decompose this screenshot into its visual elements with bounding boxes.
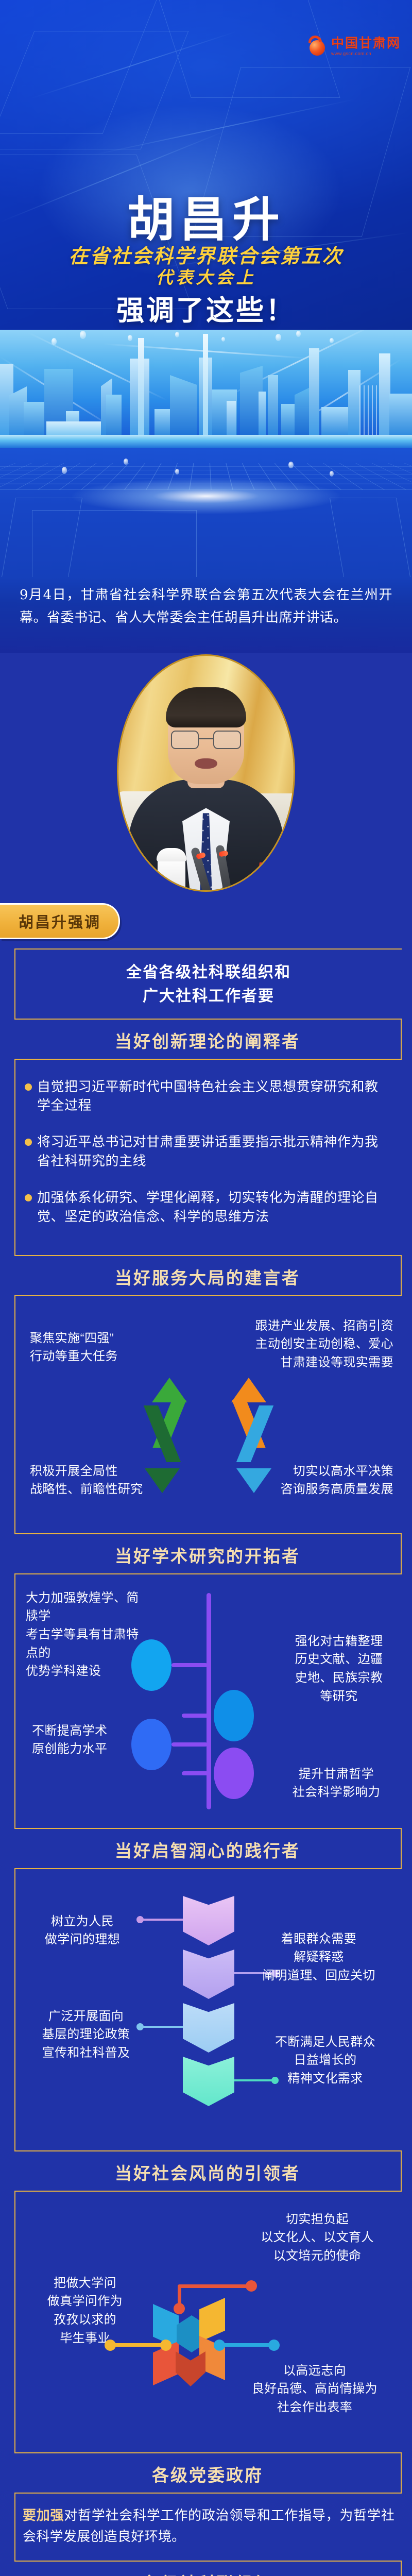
section-3-caption-1: 大力加强敦煌学、简牍学 考古学等具有甘肃特点的 优势学科建设 (26, 1589, 144, 1681)
section-2-body: 聚焦实施“四强” 行动等重大任务 跟进产业发展、招商引资 主动创安主动创稳、爱心… (14, 1295, 402, 1534)
hero-subtitle-line-2: 代表大会上 (0, 264, 412, 289)
section-1-body: 自觉把习近平新时代中国特色社会主义思想贯穿研究和教学全过程 将习近平总书记对甘肃… (14, 1059, 402, 1256)
section-2-title: 当好服务大局的建言者 (14, 1256, 401, 1295)
section-1-bullet-1: 自觉把习近平新时代中国特色社会主义思想贯穿研究和教学全过程 (37, 1077, 391, 1115)
section-5-caption-3: 以高远志向 良好品德、高尚情操为 社会作出表率 (235, 2362, 394, 2417)
list-item: 加强体系化研究、学理化阐释，切实转化为清醒的理论自觉、坚定的政治信念、科学的思维… (25, 1188, 391, 1226)
closing-1-text: 对哲学社会科学工作的政治领导和工作指导，为哲学社会科学发展创造良好环境。 (23, 2507, 394, 2544)
section-3-title-box: 当好学术研究的开拓者 (14, 1534, 402, 1573)
hero-banner: 中国甘肃网 www.gscn.com.cn 胡昌升 在省社会科学界联合会第五次 … (0, 0, 412, 330)
lead-in-box: 全省各级社科联组织和 广大社科工作者要 (14, 948, 402, 1019)
site-name: 中国甘肃网 (331, 37, 401, 50)
section-4-body: 树立为人民 做学问的理想 着眼群众需要 解疑释惑 阐明道理、回应关切 广泛开展面… (14, 1868, 402, 2151)
bullet-dot-icon (25, 1139, 32, 1146)
closing-1-lead: 要加强 (23, 2507, 64, 2523)
section-5-caption-1: 切实担负起 以文化人、以文育人 以文培元的使命 (240, 2210, 394, 2265)
section-3-title: 当好学术研究的开拓者 (14, 1534, 401, 1573)
section-4-caption-2: 着眼群众需要 解疑释惑 阐明道理、回应关切 (244, 1930, 393, 1985)
content-blocks: 全省各级社科联组织和 广大社科工作者要 当好创新理论的阐释者 自觉把习近平新时代… (0, 948, 412, 2576)
infographic-page: 中国甘肃网 www.gscn.com.cn 胡昌升 在省社会科学界联合会第五次 … (0, 0, 412, 2576)
closing-1-paragraph: 要加强对哲学社会科学工作的政治领导和工作指导，为哲学社会科学发展创造良好环境。 (23, 2505, 394, 2547)
lead-line-2: 广大社科工作者要 (21, 985, 397, 1008)
section-2-caption-4: 切实以高水平决策 咨询服务高质量发展 (260, 1462, 393, 1499)
section-3-caption-3: 不断提高学术 原创能力水平 (32, 1722, 135, 1758)
section-2-caption-3: 积极开展全局性 战略性、前瞻性研究 (30, 1462, 159, 1499)
section-4-caption-4: 不断满足人民群众 日益增长的 精神文化需求 (257, 2033, 393, 2088)
section-5-body: 切实担负起 以文化人、以文育人 以文培元的使命 把做大学问 做真学问作为 孜孜以… (14, 2191, 402, 2453)
bullet-dot-icon (25, 1194, 32, 1201)
emphasis-badge: 胡昌升强调 (0, 903, 120, 939)
chevrons-graphic (152, 1896, 265, 2102)
closing-2-title-box: 各级社科联组织 (14, 2562, 402, 2576)
section-3-caption-2: 强化对古籍整理 历史文献、边疆 史地、民族宗教 等研究 (287, 1632, 390, 1705)
portrait-section (0, 653, 412, 900)
section-1-bullet-3: 加强体系化研究、学理化阐释，切实转化为清醒的理论自觉、坚定的政治信念、科学的思维… (37, 1188, 391, 1226)
grid-decoration (0, 448, 412, 577)
closing-1-title-box: 各级党委政府 (14, 2453, 402, 2493)
cityscape-decoration (0, 330, 412, 448)
section-5-caption-2: 把做大学问 做真学问作为 孜孜以求的 毕生事业 (26, 2274, 144, 2347)
hero-emphasis-line: 强调了这些！ (0, 287, 412, 328)
four-arrows-graphic (142, 1375, 276, 1493)
spine-graphic (142, 1593, 276, 1809)
section-5-title: 当好社会风尚的引领者 (14, 2151, 401, 2191)
hero-decor-poly (0, 31, 188, 149)
closing-1-title: 各级党委政府 (14, 2453, 401, 2493)
list-item: 将习近平总书记对甘肃重要讲话重要指示批示精神作为我省社科研究的主线 (25, 1132, 391, 1171)
emphasis-badge-label: 胡昌升强调 (19, 914, 101, 931)
section-3-body: 大力加强敦煌学、简牍学 考古学等具有甘肃特点的 优势学科建设 强化对古籍整理 历… (14, 1573, 402, 1829)
section-4-caption-3: 广泛开展面向 基层的理论政策 宣传和社科普及 (22, 2007, 150, 2062)
site-url: www.gscn.com.cn (331, 51, 371, 56)
section-1-title: 当好创新理论的阐释者 (14, 1020, 401, 1059)
gansu-net-logo-icon (307, 35, 328, 58)
section-1-bullet-2: 将习近平总书记对甘肃重要讲话重要指示批示精神作为我省社科研究的主线 (37, 1132, 391, 1171)
lead-line-1: 全省各级社科联组织和 (21, 961, 397, 985)
section-3-caption-4: 提升甘肃哲学 社会科学影响力 (282, 1765, 390, 1802)
section-1-title-box: 当好创新理论的阐释者 (14, 1020, 402, 1059)
closing-2-title: 各级社科联组织 (14, 2562, 401, 2576)
section-4-title-box: 当好启智润心的践行者 (14, 1829, 402, 1868)
intro-section: 9月4日，甘肃省社会科学界联合会第五次代表大会在兰州开幕。省委书记、省人大常委会… (0, 577, 412, 653)
intro-paragraph: 9月4日，甘肃省社会科学界联合会第五次代表大会在兰州开幕。省委书记、省人大常委会… (20, 584, 392, 629)
speaker-photo (118, 656, 294, 890)
section-2-caption-2: 跟进产业发展、招商引资 主动创安主动创稳、爱心 甘肃建设等现实需要 (239, 1317, 393, 1372)
section-4-title: 当好启智润心的践行者 (14, 1829, 401, 1868)
closing-1-body: 要加强对哲学社会科学工作的政治领导和工作指导，为哲学社会科学发展创造良好环境。 (14, 2493, 402, 2562)
bullet-dot-icon (25, 1083, 32, 1091)
section-5-title-box: 当好社会风尚的引领者 (14, 2151, 402, 2191)
section-2-caption-1: 聚焦实施“四强” 行动等重大任务 (30, 1329, 148, 1366)
list-item: 自觉把习近平新时代中国特色社会主义思想贯穿研究和教学全过程 (25, 1077, 391, 1115)
emphasis-badge-row: 胡昌升强调 (0, 900, 412, 939)
section-2-title-box: 当好服务大局的建言者 (14, 1256, 402, 1295)
section-4-caption-1: 树立为人民 做学问的理想 (26, 1912, 139, 1949)
site-logo[interactable]: 中国甘肃网 www.gscn.com.cn (307, 35, 401, 58)
